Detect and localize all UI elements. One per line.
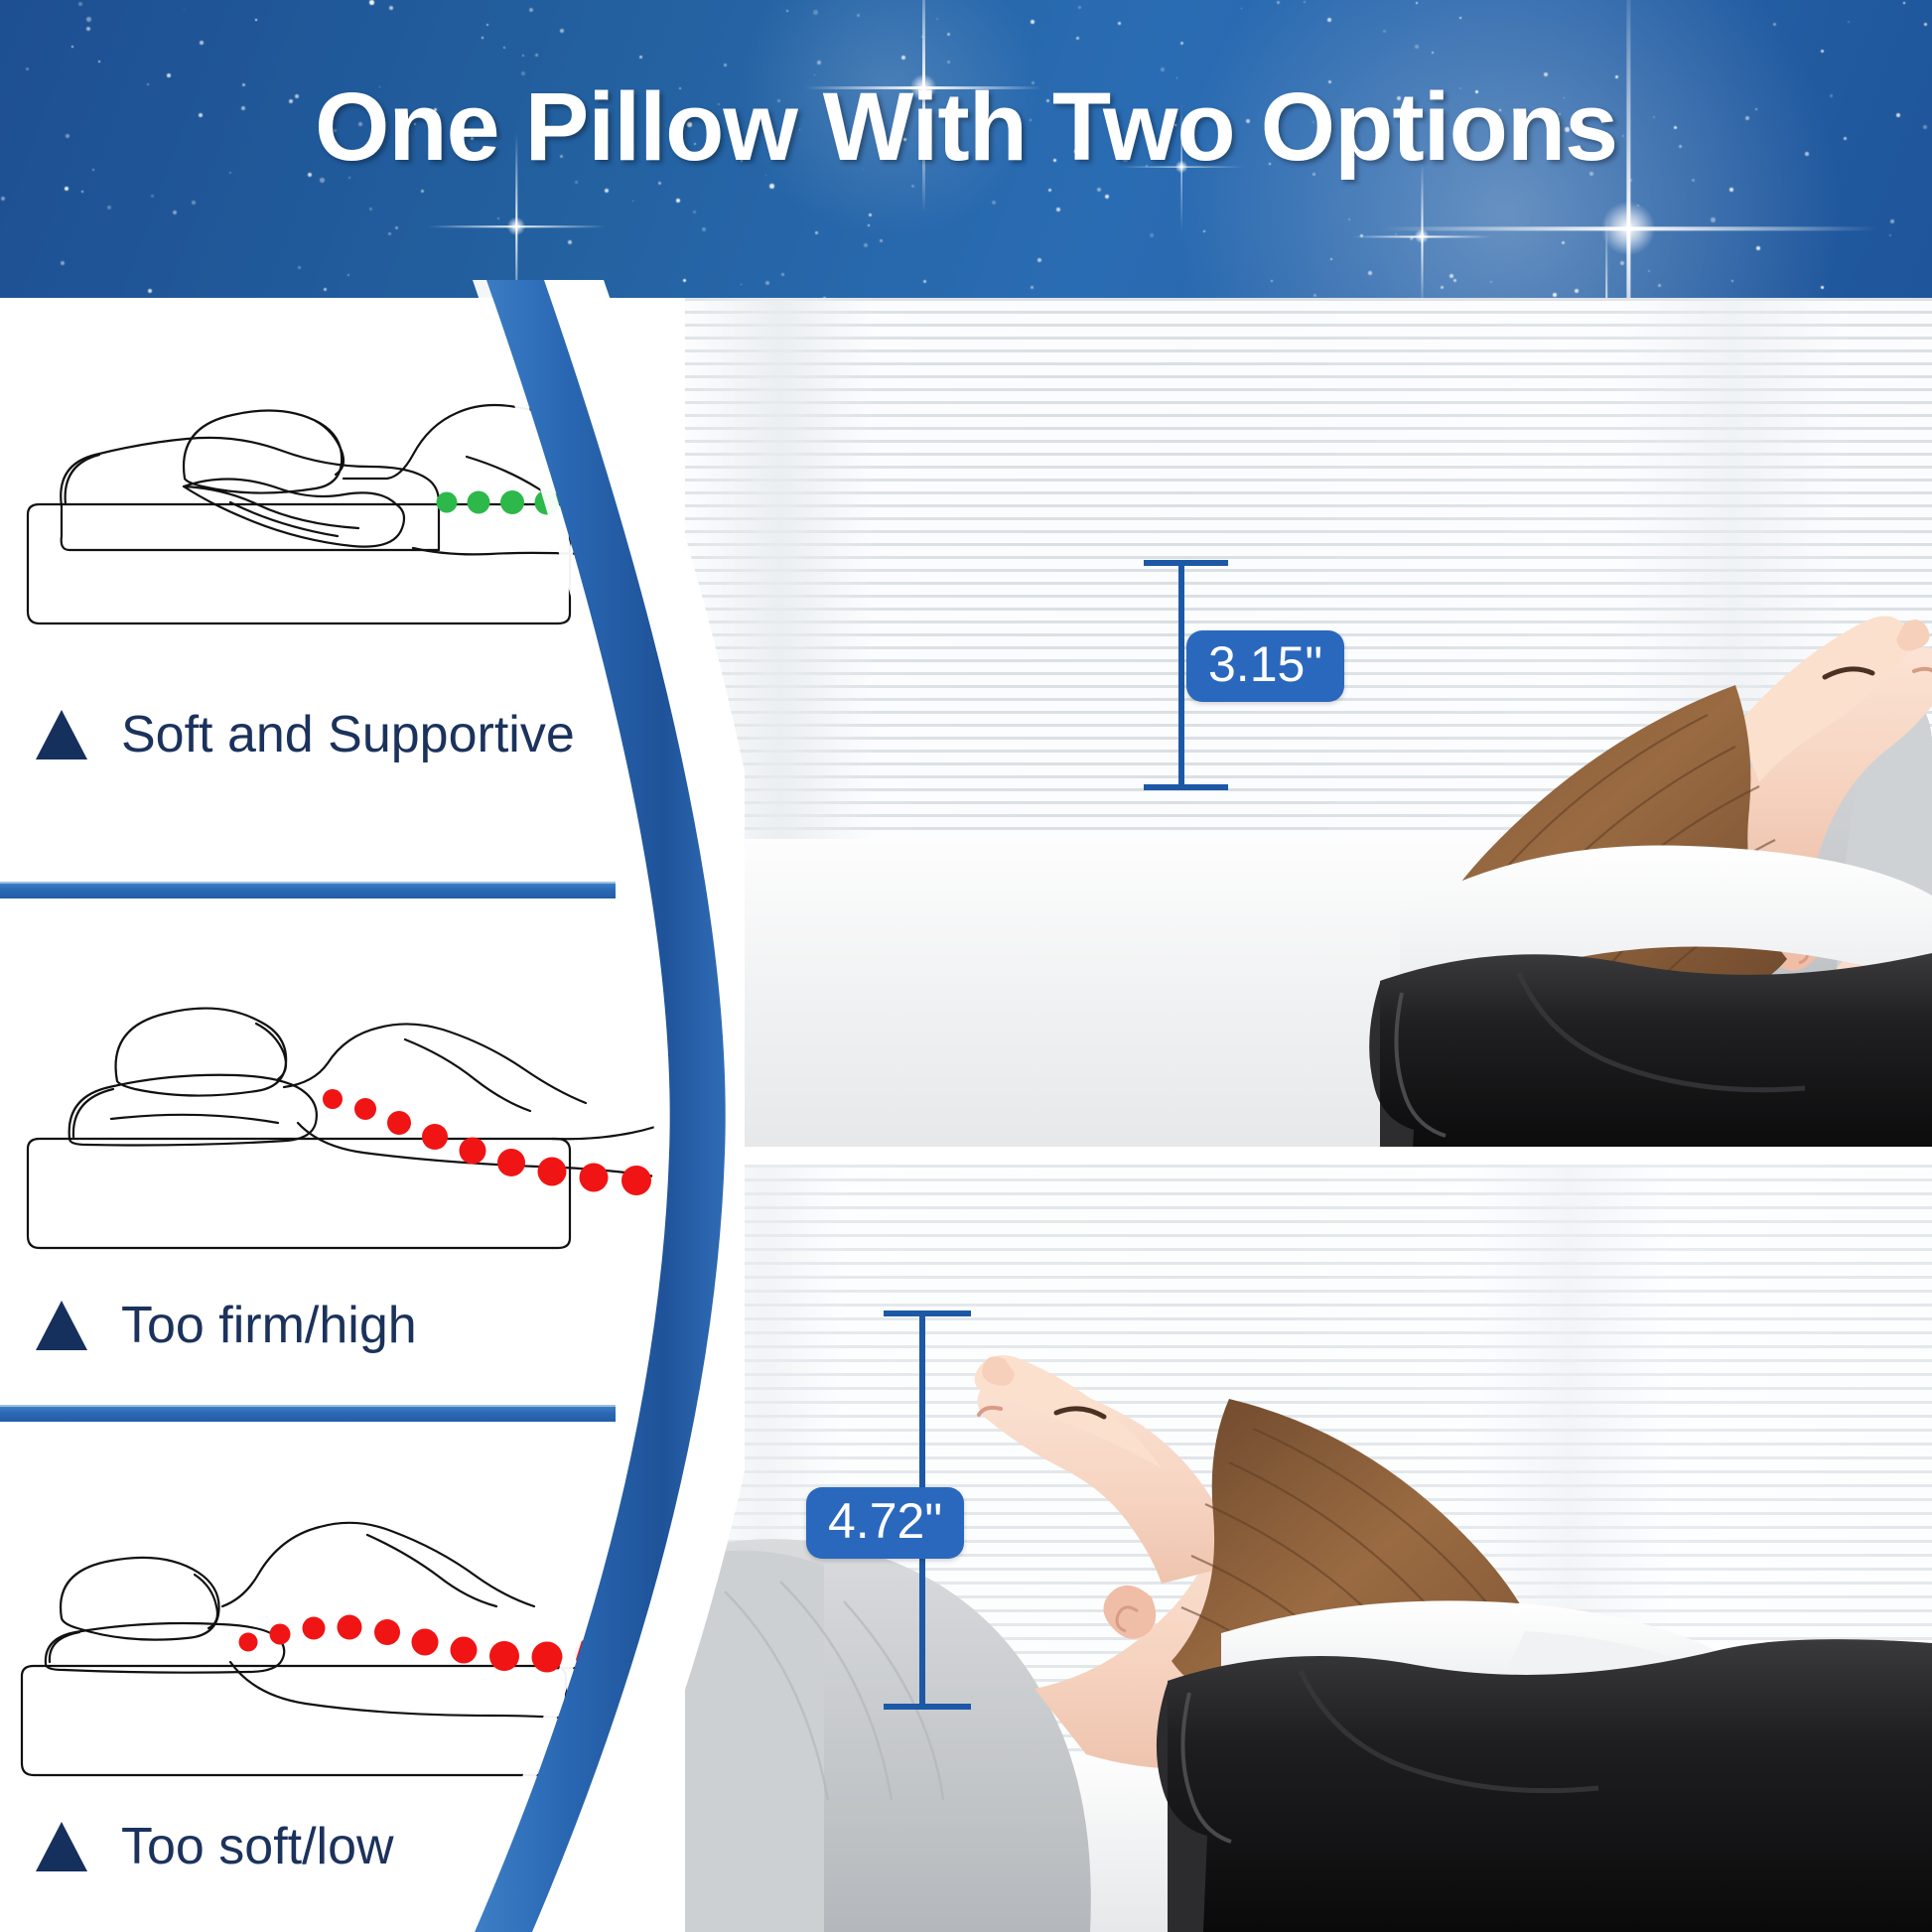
dimension-tick-top [884,1311,971,1316]
photo-high-side: 4.72" [685,1165,1932,1932]
dimension-tick-bottom [1144,784,1228,790]
photo-low-side: 3.15" [685,298,1932,1147]
dimension-tick-bottom [884,1704,971,1710]
illustration-too-firm [0,928,655,1256]
page-title: One Pillow With Two Options [0,71,1932,183]
header-banner: One Pillow With Two Options [0,0,1932,298]
panel-too-firm-high: Too firm/high [0,898,695,1422]
illustration-too-soft [0,1451,655,1779]
panel-too-soft-low: Too soft/low [0,1422,695,1932]
comparison-column: Soft and Supportive [0,298,695,1932]
spine-dots-red-down [323,1089,655,1197]
arrow-up-icon [36,710,87,759]
label-soft-and-supportive: Soft and Supportive [36,705,575,764]
label-too-soft-low: Too soft/low [36,1817,394,1876]
spine-dots-green [437,487,656,517]
arrow-up-icon [36,1301,87,1350]
panel-label-text: Too firm/high [121,1296,417,1355]
arrow-up-icon [36,1822,87,1871]
spine-dots-red-up [239,1615,656,1673]
dimension-tick-top [1144,560,1228,566]
panel-label-text: Soft and Supportive [121,705,575,764]
illustration-good-alignment [0,316,655,643]
dimension-line-vertical [1178,560,1184,790]
measurement-badge-472: 4.72" [806,1487,964,1559]
panel-label-text: Too soft/low [121,1817,394,1876]
measurement-badge-315: 3.15" [1186,630,1344,702]
panel-soft-and-supportive: Soft and Supportive [0,298,695,882]
label-too-firm-high: Too firm/high [36,1296,417,1355]
product-infographic: One Pillow With Two Options [0,0,1932,1932]
photo-subject-illustration [685,298,1932,1147]
